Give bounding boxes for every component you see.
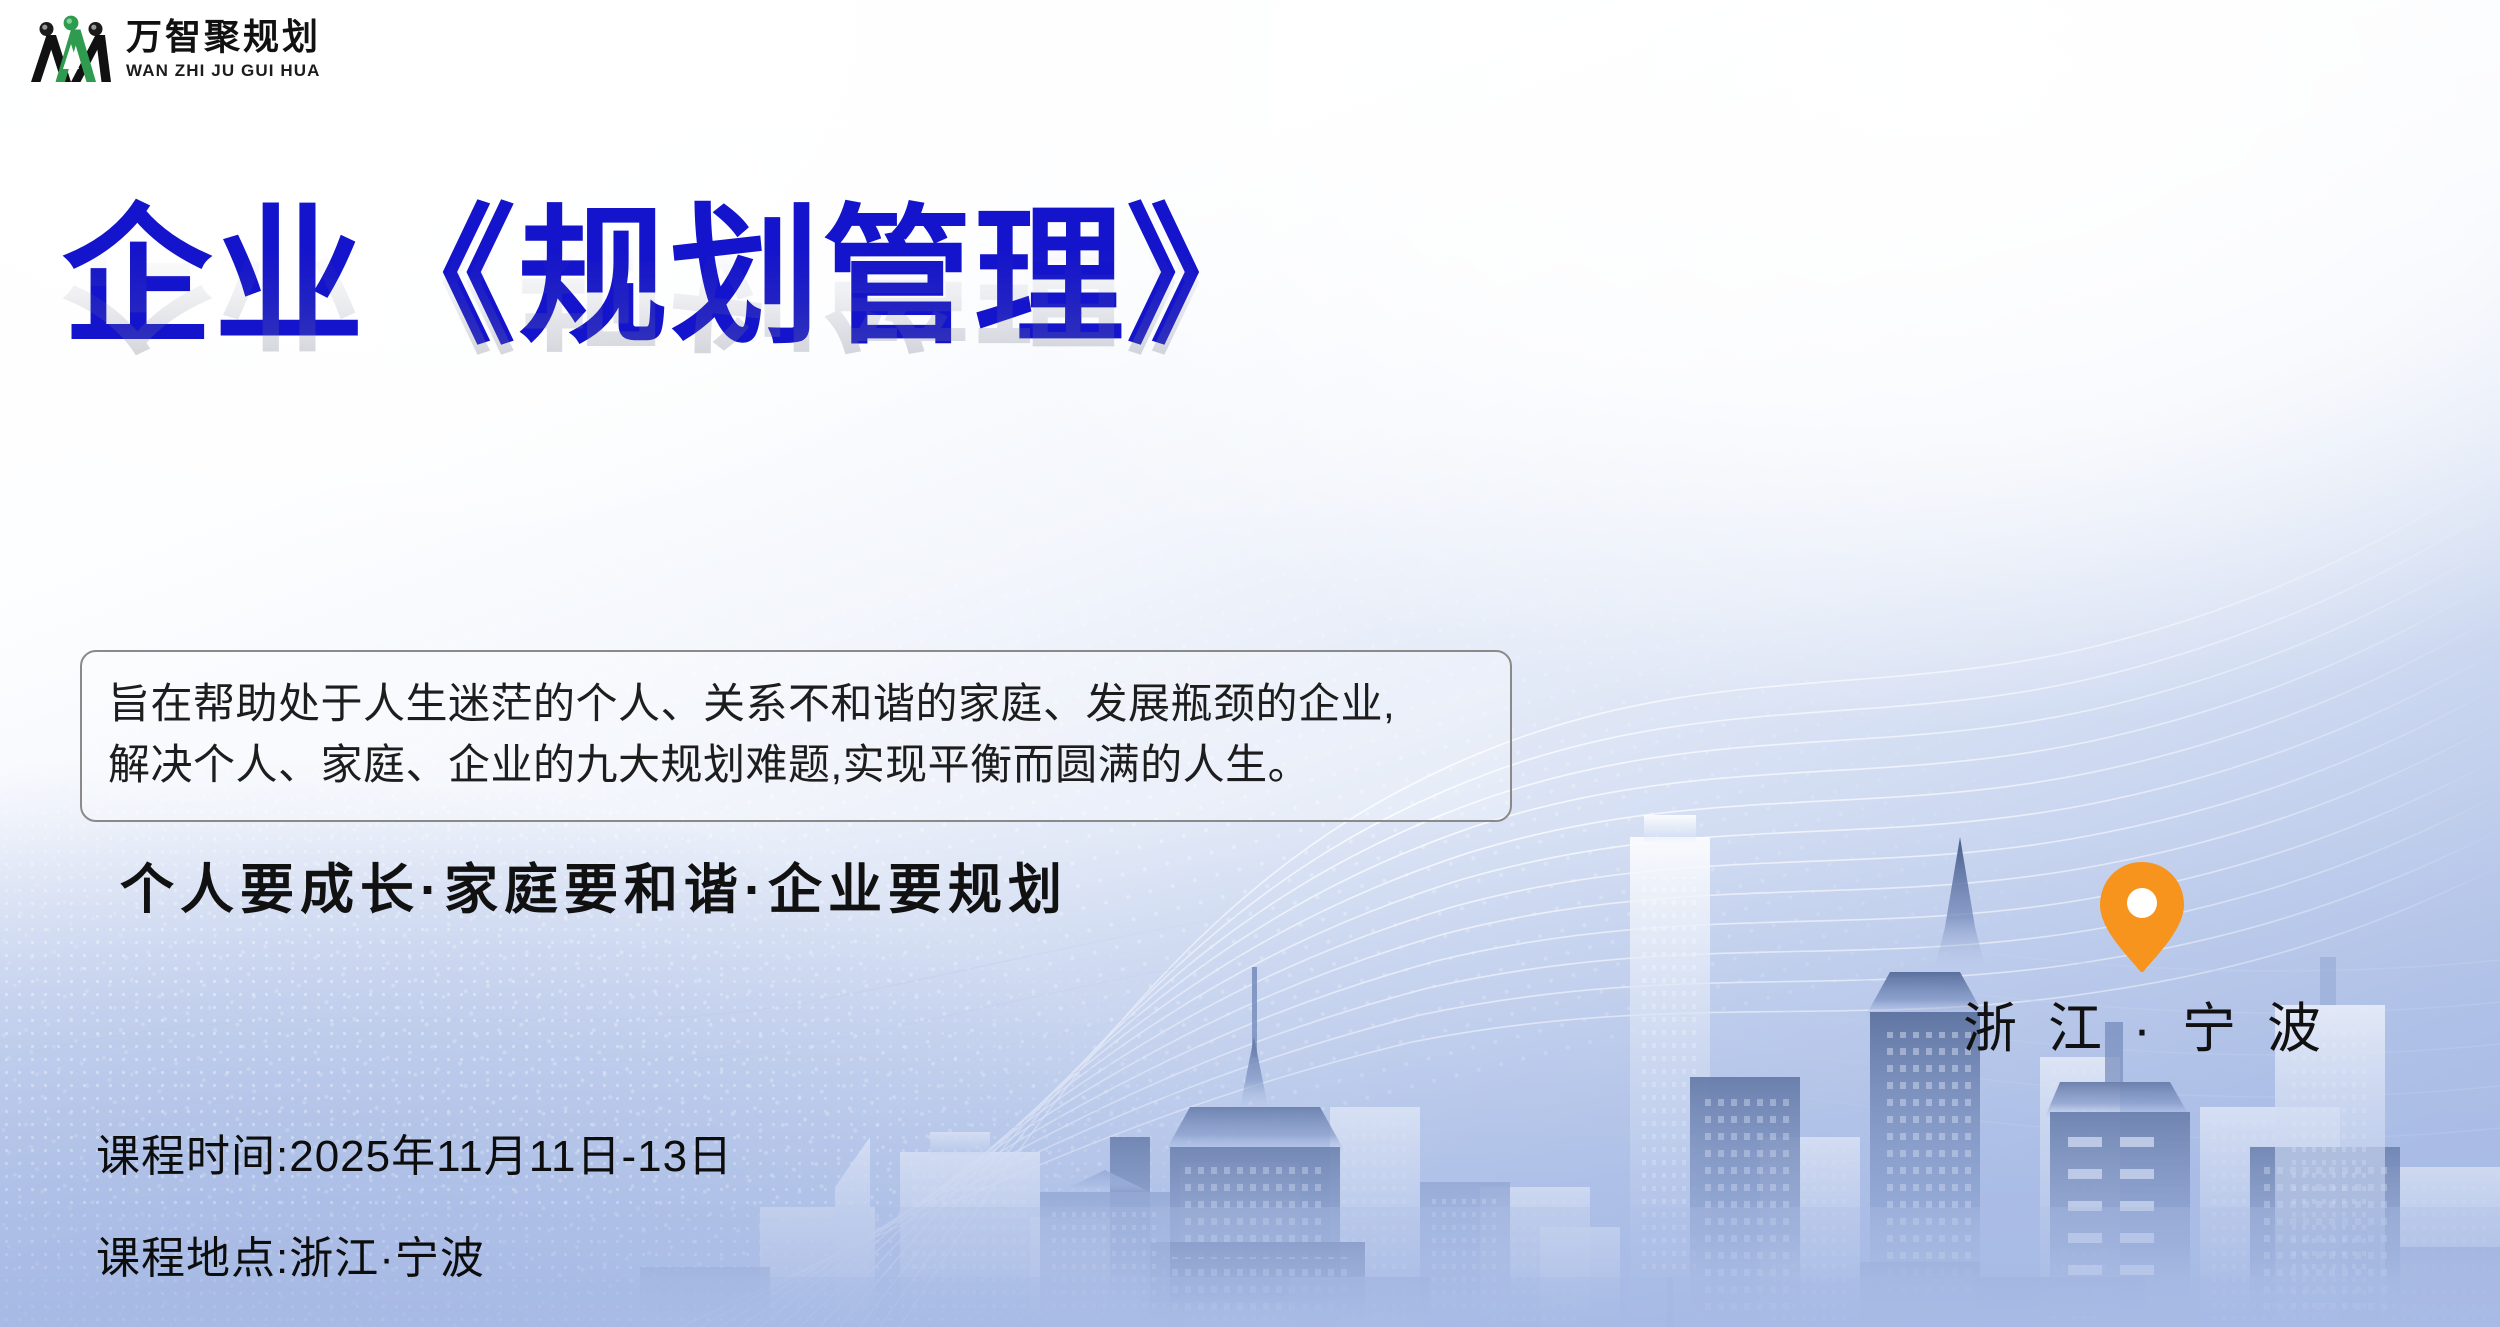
three-people-logo-icon [30, 14, 112, 84]
page-title-reflection: 企业《规划管理》 [62, 240, 1662, 358]
description-line-2: 解决个人、家庭、企业的九大规划难题,实现平衡而圆满的人生。 [108, 735, 1484, 796]
brand-name-en: WAN ZHI JU GUI HUA [126, 62, 321, 79]
description-box: 旨在帮助处于人生迷茫的个人、关系不和谐的家庭、发展瓶颈的企业, 解决个人、家庭、… [80, 650, 1512, 822]
brand-logo[interactable]: 万智聚规划 WAN ZHI JU GUI HUA [30, 14, 321, 84]
map-pin-icon [2096, 860, 2188, 974]
description-line-1: 旨在帮助处于人生迷茫的个人、关系不和谐的家庭、发展瓶颈的企业, [108, 674, 1484, 735]
brand-logo-text: 万智聚规划 WAN ZHI JU GUI HUA [126, 19, 321, 79]
brand-name-cn: 万智聚规划 [126, 19, 321, 55]
location-name: 浙 江 · 宁 波 [1955, 984, 2329, 1063]
course-time: 课程时间:2025年11月11日-13日 [96, 1120, 733, 1184]
headline-block: 企业《规划管理》 企业《规划管理》 [62, 196, 1662, 476]
location-badge: 浙 江 · 宁 波 [1955, 860, 2329, 1063]
slogan-text: 个人要成长·家庭要和谐·企业要规划 [120, 845, 1068, 924]
poster-canvas: 万智聚规划 WAN ZHI JU GUI HUA 企业《规划管理》 企业《规划管… [0, 0, 2500, 1327]
course-meta: 课程时间:2025年11月11日-13日 课程地点:浙江·宁波 [96, 1120, 733, 1286]
course-place: 课程地点:浙江·宁波 [96, 1222, 733, 1286]
